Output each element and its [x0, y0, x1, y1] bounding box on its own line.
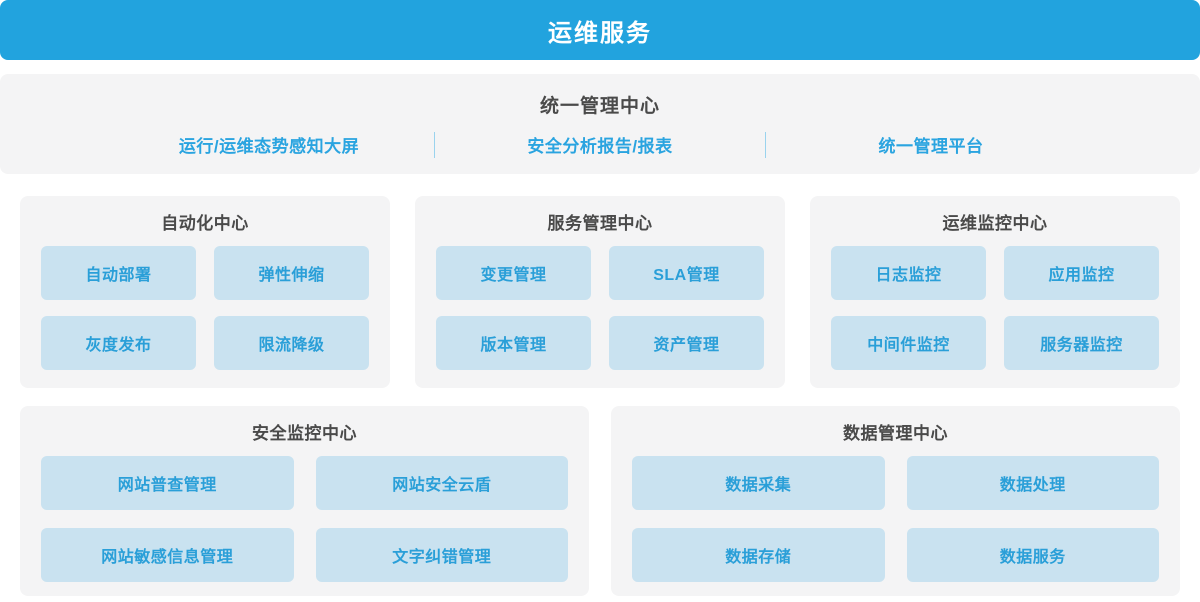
panel-title: 运维监控中心 [943, 209, 1048, 234]
tile-middleware-monitoring[interactable]: 中间件监控 [831, 316, 986, 370]
panel-tiles: 日志监控 应用监控 中间件监控 服务器监控 [831, 246, 1159, 370]
tile-data-service[interactable]: 数据服务 [907, 528, 1160, 582]
panel-title: 服务管理中心 [548, 209, 653, 234]
panel-ops-monitoring-center: 运维监控中心 日志监控 应用监控 中间件监控 服务器监控 [810, 196, 1180, 388]
tile-data-collection[interactable]: 数据采集 [632, 456, 885, 510]
management-center-section: 统一管理中心 运行/运维态势感知大屏 安全分析报告/报表 统一管理平台 [0, 74, 1200, 174]
tile-data-processing[interactable]: 数据处理 [907, 456, 1160, 510]
tile-rate-limit-degrade[interactable]: 限流降级 [214, 316, 369, 370]
tile-change-management[interactable]: 变更管理 [436, 246, 591, 300]
panel-title: 安全监控中心 [252, 419, 357, 444]
tile-sla-management[interactable]: SLA管理 [609, 246, 764, 300]
panel-tiles: 网站普查管理 网站安全云盾 网站敏感信息管理 文字纠错管理 [41, 456, 568, 582]
tile-application-monitoring[interactable]: 应用监控 [1004, 246, 1159, 300]
panel-title: 数据管理中心 [843, 419, 948, 444]
tile-website-security-cloud-shield[interactable]: 网站安全云盾 [316, 456, 569, 510]
tile-version-management[interactable]: 版本管理 [436, 316, 591, 370]
middle-panel-row: 自动化中心 自动部署 弹性伸缩 灰度发布 限流降级 服务管理中心 变更管理 SL… [20, 196, 1180, 388]
bottom-panel-row: 安全监控中心 网站普查管理 网站安全云盾 网站敏感信息管理 文字纠错管理 数据管… [20, 406, 1180, 596]
banner-header: 运维服务 [0, 0, 1200, 60]
panel-title: 自动化中心 [161, 209, 249, 234]
panel-tiles: 自动部署 弹性伸缩 灰度发布 限流降级 [41, 246, 369, 370]
tile-asset-management[interactable]: 资产管理 [609, 316, 764, 370]
management-link-unified-platform[interactable]: 统一管理平台 [766, 132, 1096, 157]
tile-data-storage[interactable]: 数据存储 [632, 528, 885, 582]
management-link-situational-awareness-screen[interactable]: 运行/运维态势感知大屏 [104, 132, 434, 157]
tile-gray-release[interactable]: 灰度发布 [41, 316, 196, 370]
tile-auto-deploy[interactable]: 自动部署 [41, 246, 196, 300]
management-center-links: 运行/运维态势感知大屏 安全分析报告/报表 统一管理平台 [0, 132, 1200, 158]
ops-service-architecture-diagram: 运维服务 统一管理中心 运行/运维态势感知大屏 安全分析报告/报表 统一管理平台… [0, 0, 1200, 602]
tile-log-monitoring[interactable]: 日志监控 [831, 246, 986, 300]
tile-elastic-scaling[interactable]: 弹性伸缩 [214, 246, 369, 300]
panel-tiles: 数据采集 数据处理 数据存储 数据服务 [632, 456, 1159, 582]
tile-text-proofreading-management[interactable]: 文字纠错管理 [316, 528, 569, 582]
panel-tiles: 变更管理 SLA管理 版本管理 资产管理 [436, 246, 764, 370]
tile-server-monitoring[interactable]: 服务器监控 [1004, 316, 1159, 370]
panel-automation-center: 自动化中心 自动部署 弹性伸缩 灰度发布 限流降级 [20, 196, 390, 388]
management-center-title: 统一管理中心 [540, 91, 660, 118]
management-link-security-analysis-report[interactable]: 安全分析报告/报表 [435, 132, 765, 157]
panel-service-management-center: 服务管理中心 变更管理 SLA管理 版本管理 资产管理 [415, 196, 785, 388]
banner-title: 运维服务 [548, 13, 652, 48]
panel-security-monitoring-center: 安全监控中心 网站普查管理 网站安全云盾 网站敏感信息管理 文字纠错管理 [20, 406, 589, 596]
panel-data-management-center: 数据管理中心 数据采集 数据处理 数据存储 数据服务 [611, 406, 1180, 596]
tile-website-census-management[interactable]: 网站普查管理 [41, 456, 294, 510]
tile-website-sensitive-info-management[interactable]: 网站敏感信息管理 [41, 528, 294, 582]
